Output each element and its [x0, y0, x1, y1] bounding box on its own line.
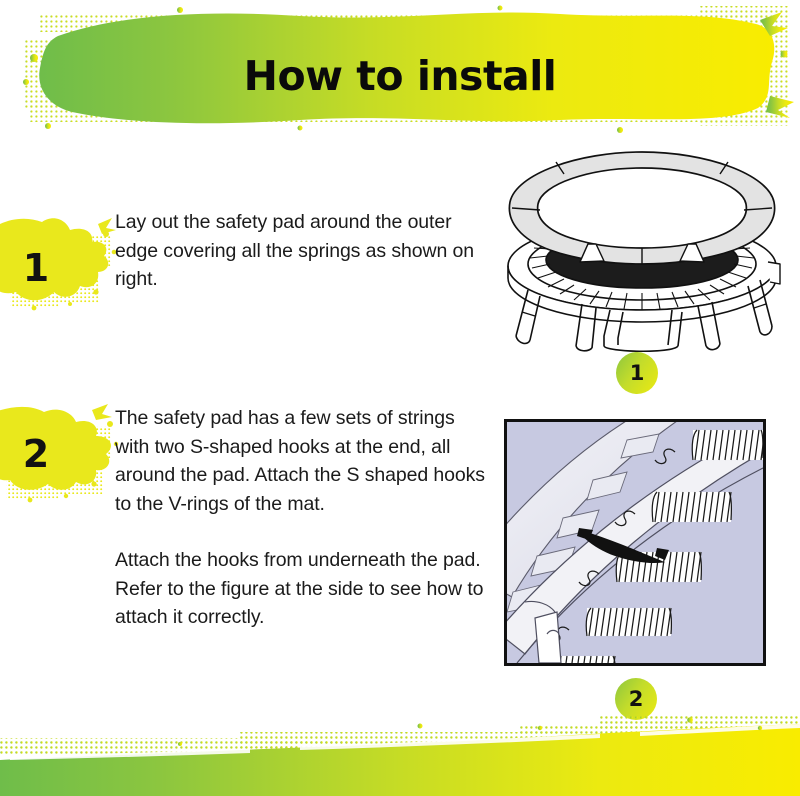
step-2-text: The safety pad has a few sets of strings…: [115, 404, 490, 632]
figure-2-badge: 2: [615, 678, 657, 720]
figure-spring-hook-closeup: [504, 419, 766, 666]
step-2-paragraph-1: The safety pad has a few sets of strings…: [115, 404, 490, 518]
footer-brush-band: [0, 716, 800, 796]
step-1-number: 1: [0, 246, 72, 290]
step-1-paragraph-1: Lay out the safety pad around the outer …: [115, 208, 490, 294]
step-2-paragraph-2: Attach the hooks from underneath the pad…: [115, 546, 490, 632]
figure-1-badge: 1: [616, 352, 658, 394]
figure-trampoline-with-safety-pad: [492, 140, 792, 352]
step-1-text: Lay out the safety pad around the outer …: [115, 208, 490, 294]
step-2-number: 2: [0, 432, 72, 476]
page-title: How to install: [0, 50, 800, 102]
